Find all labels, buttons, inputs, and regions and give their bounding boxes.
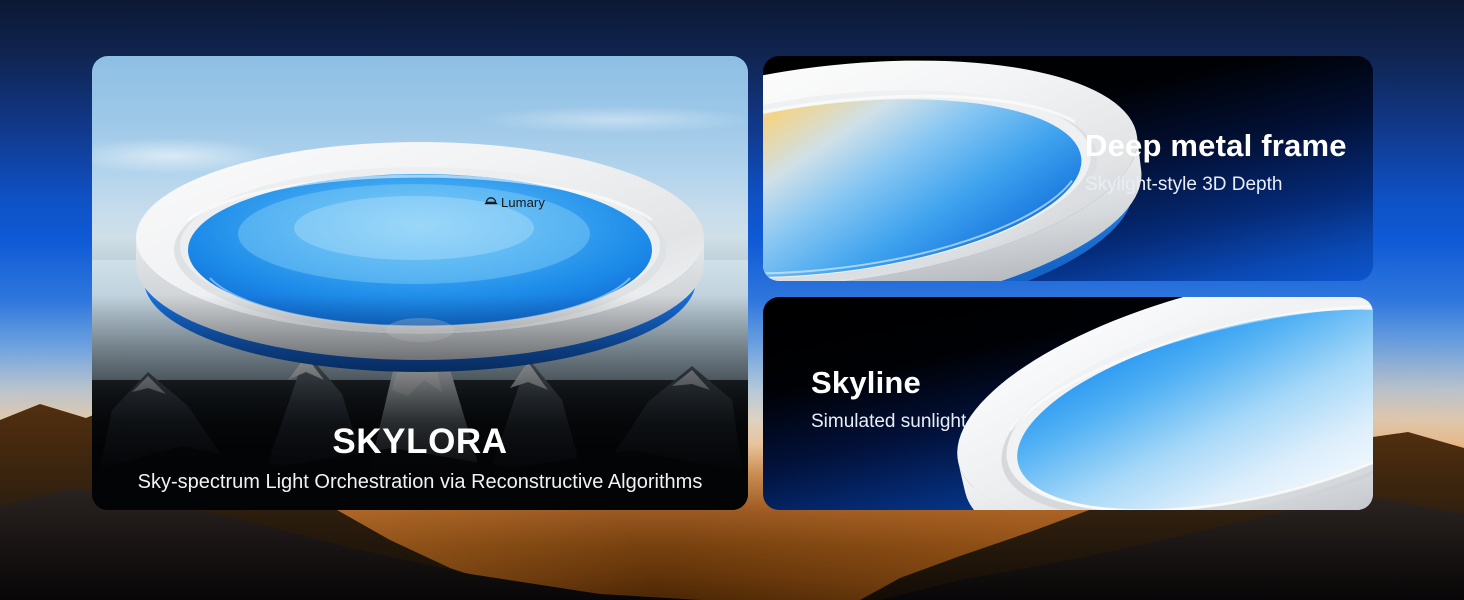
skyline-caption: Skyline Simulated sunlight [811,365,966,433]
hero-title: SKYLORA [92,423,748,462]
deep-metal-frame-subtitle: Skylight-style 3D Depth [1085,174,1347,196]
ceiling-light-closeup-rim [763,56,1113,281]
brand-name-hero: Lumary [501,195,545,210]
sunrise-dome-icon [484,193,498,212]
hero-subtitle: Sky-spectrum Light Orchestration via Rec… [92,470,748,494]
deep-metal-frame-title: Deep metal frame [1085,128,1347,164]
ceiling-light-closeup-panel [995,297,1373,510]
card-skyline[interactable]: Skyline Simulated sunlight [763,297,1373,510]
deep-metal-frame-caption: Deep metal frame Skylight-style 3D Depth [1085,128,1347,196]
skyline-subtitle: Simulated sunlight [811,411,966,433]
promo-banner: Lumary SKYLORA Sky-spectrum Light Orches… [0,0,1464,600]
card-skylora-hero[interactable]: Lumary SKYLORA Sky-spectrum Light Orches… [92,56,748,510]
brand-logo-hero: Lumary [484,193,545,212]
card-deep-metal-frame[interactable]: Lumary Deep metal frame Skylight-style 3… [763,56,1373,281]
hero-caption: SKYLORA Sky-spectrum Light Orchestration… [92,423,748,495]
skyline-title: Skyline [811,365,966,401]
